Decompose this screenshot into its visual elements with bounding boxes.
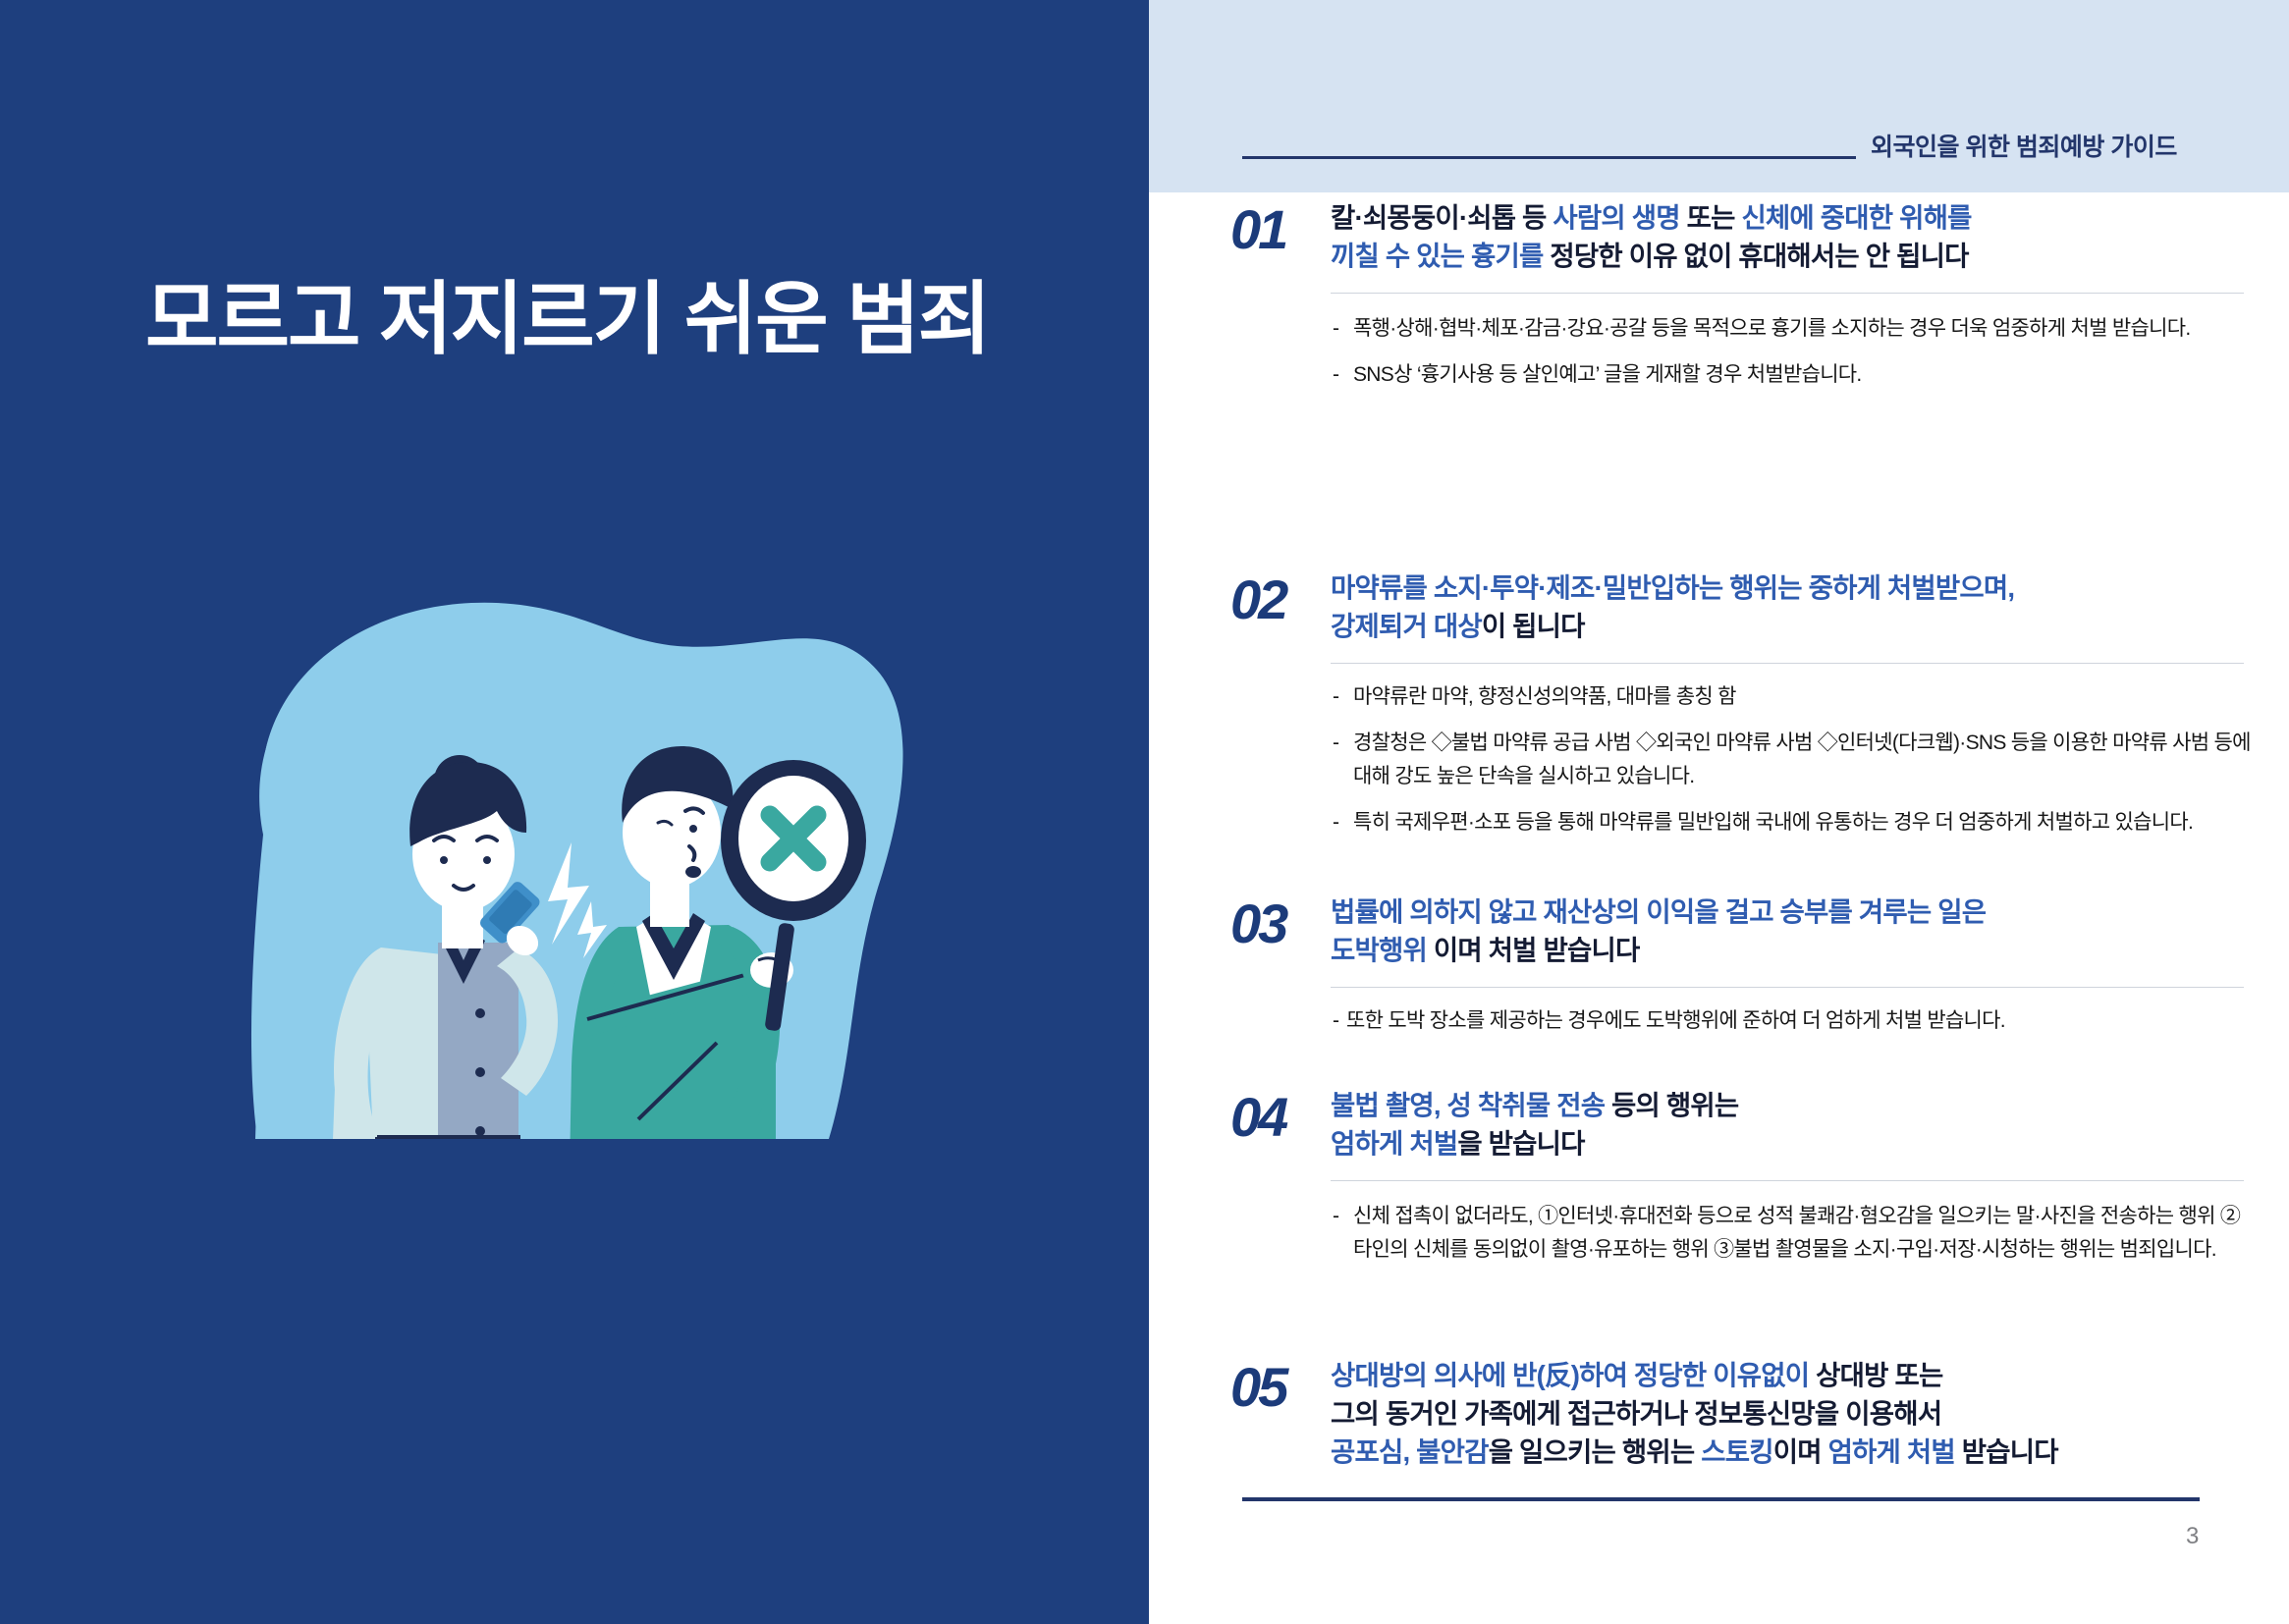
item-divider-03 (1331, 987, 2244, 988)
dash-marker: - (1333, 806, 1338, 839)
list-item: -폭행·상해·협박·체포·감금·강요·공갈 등을 목적으로 흉기를 소지하는 경… (1331, 312, 2254, 346)
item-heading-04: 불법 촬영, 성 착취물 전송 등의 행위는엄하게 처벌을 받습니다 (1331, 1086, 2244, 1163)
item-heading-03: 법률에 의하지 않고 재산상의 이익을 걸고 승부를 겨루는 일은도박행위 이며… (1331, 893, 2244, 969)
dash-marker: - (1333, 1200, 1338, 1233)
list-item: -신체 접촉이 없더라도, ①인터넷·휴대전화 등으로 성적 불쾌감·혐오감을 … (1331, 1200, 2254, 1267)
item-bullets-01: -폭행·상해·협박·체포·감금·강요·공갈 등을 목적으로 흉기를 소지하는 경… (1331, 312, 2254, 392)
item-number-01: 01 (1230, 202, 1285, 257)
cover-illustration (147, 589, 933, 1139)
header-band (1149, 0, 2289, 192)
list-item: -또한 도박 장소를 제공하는 경우에도 도박행위에 준하여 더 엄하게 처벌 … (1331, 1004, 2254, 1038)
header-title: 외국인을 위한 범죄예방 가이드 (1871, 128, 2177, 163)
footer-rule (1242, 1497, 2200, 1501)
content-panel: 외국인을 위한 범죄예방 가이드 01 칼·쇠몽둥이·쇠톱 등 사람의 생명 또… (1149, 0, 2289, 1624)
list-item: -SNS상 ‘흉기사용 등 살인예고’ 글을 게재할 경우 처벌받습니다. (1331, 358, 2254, 392)
item-heading-05: 상대방의 의사에 반(反)하여 정당한 이유없이 상대방 또는그의 동거인 가족… (1331, 1356, 2244, 1471)
item-divider-04 (1331, 1180, 2244, 1181)
header-rule (1242, 156, 1856, 159)
item-heading-01: 칼·쇠몽둥이·쇠톱 등 사람의 생명 또는 신체에 중대한 위해를끼칠 수 있는… (1331, 198, 2244, 275)
dash-marker: - (1333, 680, 1338, 714)
page-number: 3 (2186, 1523, 2199, 1550)
item-number-04: 04 (1230, 1090, 1285, 1145)
item-heading-02: 마약류를 소지·투약·제조·밀반입하는 행위는 중하게 처벌받으며,강제퇴거 대… (1331, 568, 2244, 645)
item-bullets-03: -또한 도박 장소를 제공하는 경우에도 도박행위에 준하여 더 엄하게 처벌 … (1331, 1004, 2254, 1038)
items-container: 01 칼·쇠몽둥이·쇠톱 등 사람의 생명 또는 신체에 중대한 위해를끼칠 수… (1149, 192, 2289, 1624)
item-bullets-02: -마약류란 마약, 향정신성의약품, 대마를 총칭 함 -경찰청은 ◇불법 마약… (1331, 680, 2254, 839)
page-title: 모르고 저지르기 쉬운 범죄 (145, 281, 1029, 360)
dash-marker: - (1333, 727, 1338, 760)
item-number-05: 05 (1230, 1360, 1285, 1415)
item-number-02: 02 (1230, 572, 1285, 627)
cover-panel: 모르고 저지르기 쉬운 범죄 (0, 0, 1149, 1624)
item-number-03: 03 (1230, 896, 1285, 951)
list-item: -경찰청은 ◇불법 마약류 공급 사범 ◇외국인 마약류 사범 ◇인터넷(다크웹… (1331, 727, 2254, 793)
item-divider-02 (1331, 663, 2244, 664)
dash-marker: - (1333, 312, 1338, 346)
list-item: -마약류란 마약, 향정신성의약품, 대마를 총칭 함 (1331, 680, 2254, 714)
dash-marker: - (1333, 1004, 1338, 1038)
item-bullets-04: -신체 접촉이 없더라도, ①인터넷·휴대전화 등으로 성적 불쾌감·혐오감을 … (1331, 1200, 2254, 1267)
item-divider-01 (1331, 293, 2244, 294)
list-item: -특히 국제우편·소포 등을 통해 마약류를 밀반입해 국내에 유통하는 경우 … (1331, 806, 2254, 839)
dash-marker: - (1333, 358, 1338, 392)
